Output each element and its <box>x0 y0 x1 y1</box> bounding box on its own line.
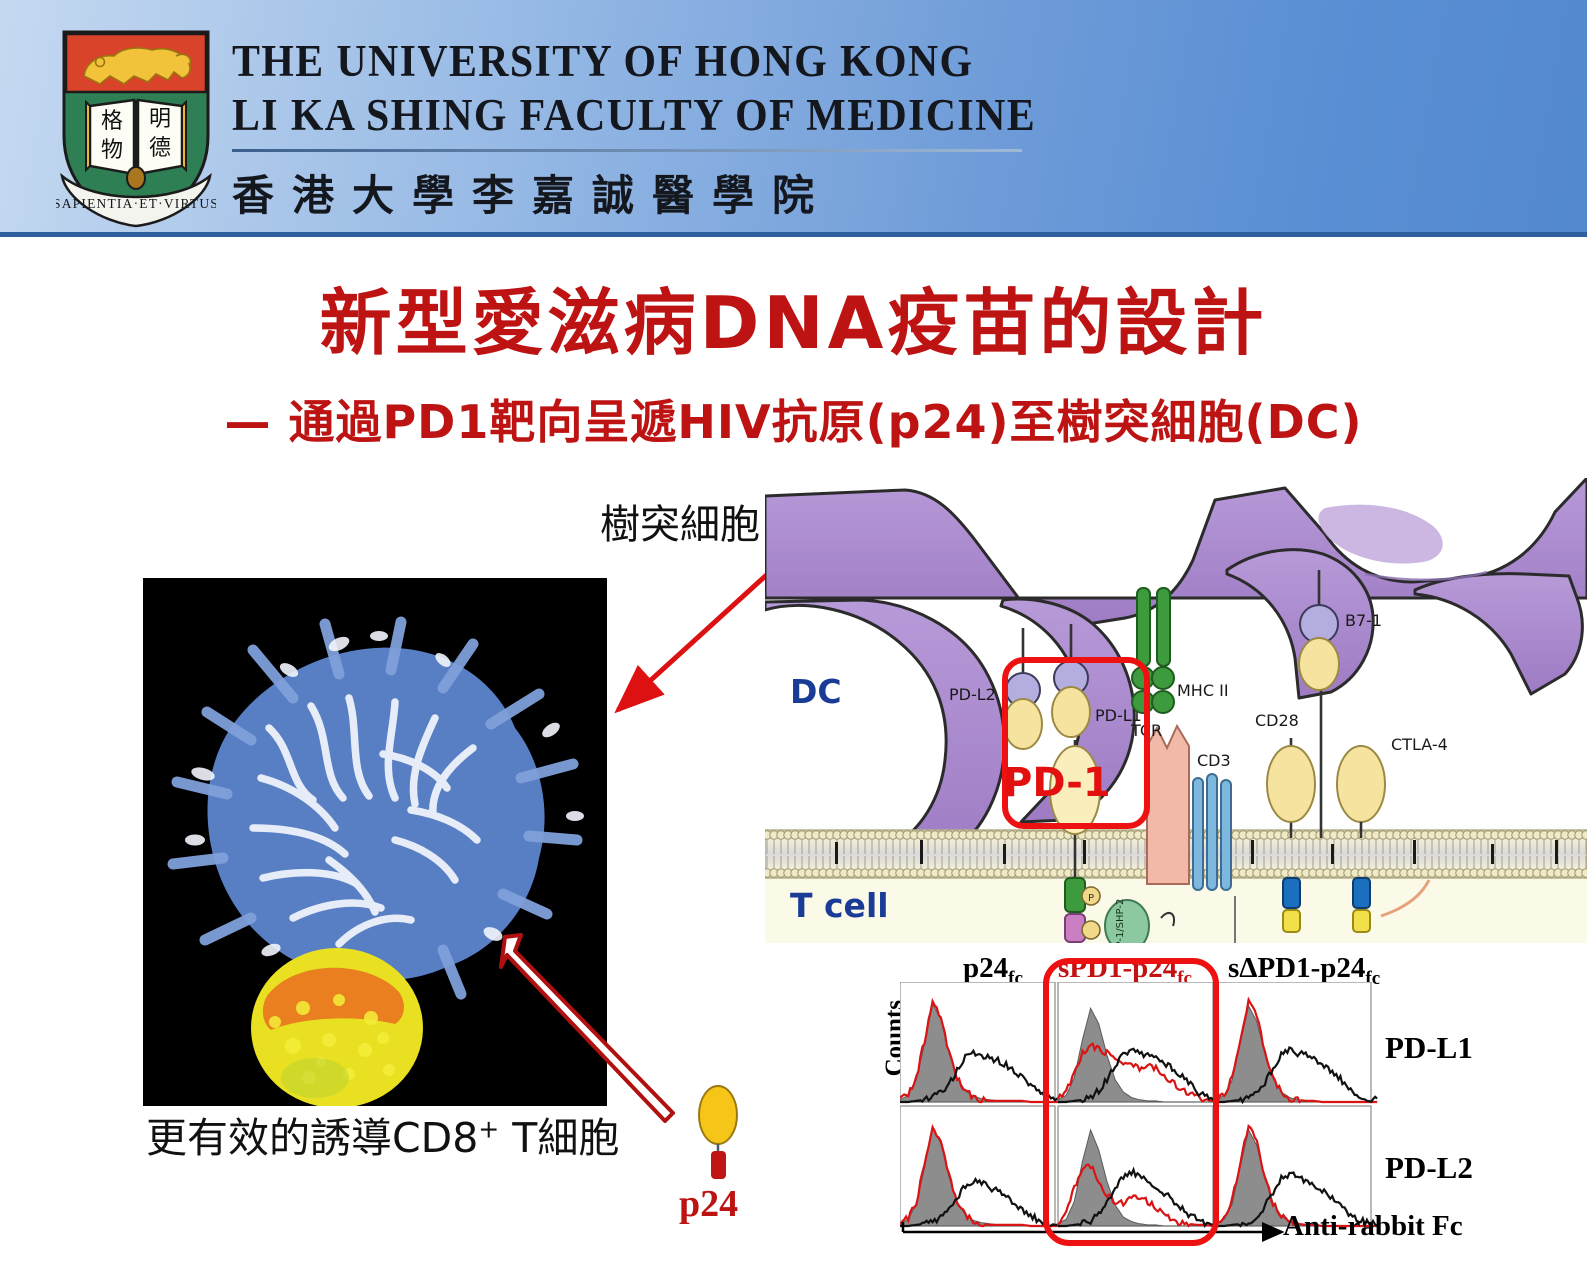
tcr-receptor <box>1147 726 1189 884</box>
flow-col-label-2: sΔPD1-p24 <box>1228 952 1365 984</box>
svg-text:SHP-1/SHP-2: SHP-1/SHP-2 <box>1115 899 1126 943</box>
tcell-label: T cell <box>790 886 889 925</box>
cd28-receptor <box>1267 746 1315 822</box>
dc-label: DC <box>790 672 842 711</box>
dendritic-cell-annotation-label: 樹突細胞 <box>600 492 760 550</box>
flow-panel-pd-l2-sPD1p24fc <box>1216 1106 1377 1226</box>
p24-label: p24 <box>679 1182 738 1226</box>
flow-panel-pd-l1-p24fc <box>900 982 1061 1102</box>
flow-col-label-0: p24 <box>963 952 1008 984</box>
flow-panel-pd-l2-p24fc <box>900 1106 1061 1226</box>
svg-text:物: 物 <box>101 138 123 163</box>
flow-row-label-pdl1: PD-L1 <box>1385 1030 1473 1066</box>
p24-pointer-arrow <box>455 915 725 1130</box>
hku-header-banner: 格 明 物 德 SAPIENTIA·ET·VIRTUS THE UNIVERSI… <box>0 0 1587 232</box>
pd1-highlight-label: PD-1 <box>1003 760 1111 806</box>
svg-text:CD3: CD3 <box>1197 751 1231 770</box>
b7-1-receptor <box>1299 605 1339 690</box>
university-name-chinese: 香港大學李嘉誠醫學院 <box>232 162 1097 223</box>
flow-x-axis-label: Anti-rabbit Fc <box>1283 1210 1463 1243</box>
header-divider-rule <box>232 149 1022 152</box>
svg-text:明: 明 <box>149 107 171 132</box>
slide-title: 新型愛滋病DNA疫苗的設計 <box>0 264 1587 369</box>
svg-text:PD-L2: PD-L2 <box>949 685 996 704</box>
svg-text:B7-1: B7-1 <box>1345 611 1382 630</box>
university-name-line2: LI KA SHING FACULTY OF MEDICINE <box>232 88 1036 142</box>
cd3-receptor <box>1193 774 1231 890</box>
svg-text:CD28: CD28 <box>1255 711 1299 730</box>
flow-panel-pd-l2-sPD1p24fc <box>1058 1106 1219 1226</box>
svg-text:SAPIENTIA·ET·VIRTUS: SAPIENTIA·ET·VIRTUS <box>56 196 216 211</box>
hku-crest-logo: 格 明 物 德 SAPIENTIA·ET·VIRTUS <box>56 26 216 229</box>
header-text-block: THE UNIVERSITY OF HONG KONG LI KA SHING … <box>232 34 1097 223</box>
slide-subtitle: — 通過PD1靶向呈遞HIV抗原(p24)至樹突細胞(DC) <box>0 386 1587 452</box>
university-name-line1: THE UNIVERSITY OF HONG KONG <box>232 34 1036 88</box>
flow-panel-pd-l1-sPD1p24fc <box>1216 982 1377 1102</box>
caption-prefix: 更有效的誘導CD8 <box>146 1114 478 1162</box>
svg-text:德: 德 <box>149 136 171 161</box>
svg-text:P: P <box>1088 893 1094 904</box>
flow-x-axis-arrow <box>900 1222 1300 1252</box>
p24-molecule-icon <box>688 1085 748 1185</box>
header-bottom-border <box>0 232 1587 237</box>
flow-col-label-1: sPD1-p24 <box>1058 952 1177 984</box>
svg-text:CTLA-4: CTLA-4 <box>1391 735 1448 754</box>
dc-tcell-synapse-diagram: PD-L2 PD-L1 MHC II B7-1 TCR <box>765 478 1587 943</box>
svg-text:MHC II: MHC II <box>1177 681 1229 700</box>
flow-panel-pd-l1-sPD1p24fc <box>1058 982 1219 1102</box>
svg-text:格: 格 <box>101 109 123 134</box>
flow-row-label-pdl2: PD-L2 <box>1385 1150 1473 1186</box>
